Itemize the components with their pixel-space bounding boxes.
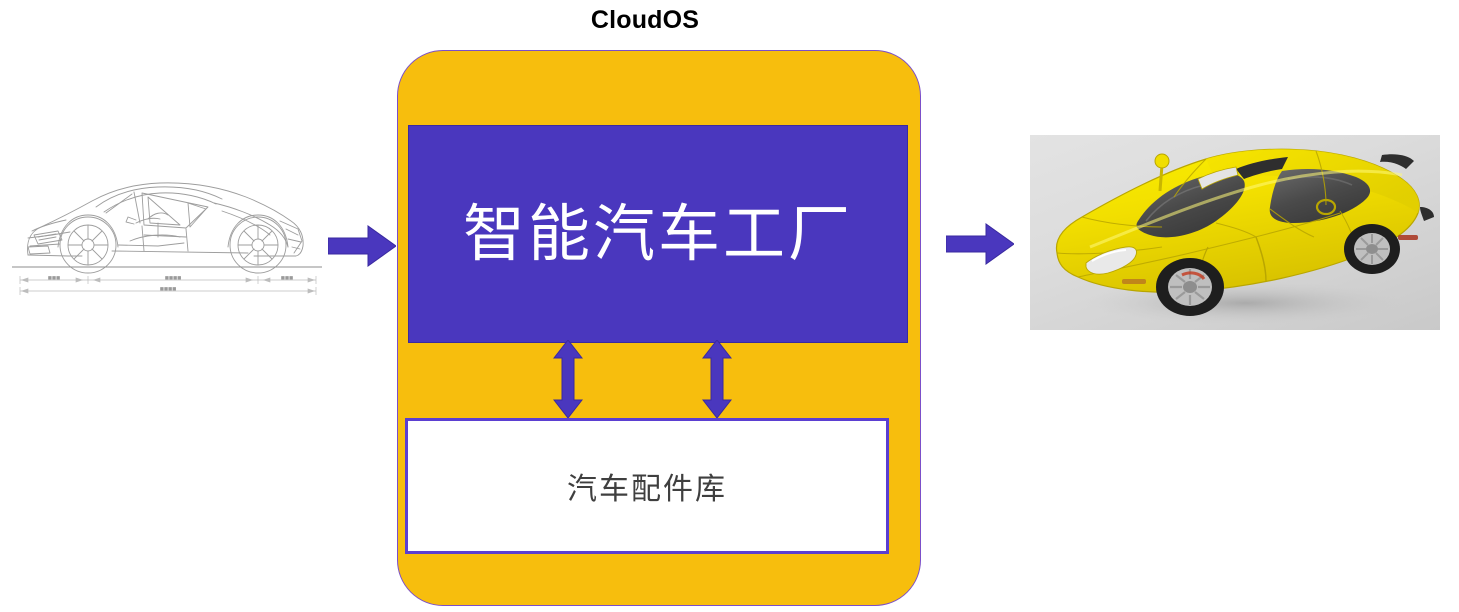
car-blueprint-drawing: ■■■ ■■■■ ■■■ ■■■■ (8, 163, 326, 296)
smart-car-factory-box[interactable]: 智能汽车工厂 (408, 125, 908, 343)
auto-parts-library-label: 汽车配件库 (567, 464, 727, 508)
svg-text:■■■: ■■■ (281, 276, 293, 281)
svg-text:■■■■: ■■■■ (165, 276, 182, 281)
page-title: CloudOS (0, 5, 1290, 35)
arrow-right-icon (946, 222, 1014, 266)
svg-text:■■■: ■■■ (48, 276, 60, 281)
arrow-right-icon (328, 224, 396, 268)
arrow-up-down-icon (553, 340, 583, 418)
cloud-platform-panel: 智能汽车工厂 汽车配件库 (397, 50, 921, 606)
smart-car-factory-label: 智能汽车工厂 (463, 203, 853, 265)
svg-text:■■■■: ■■■■ (160, 287, 177, 292)
diagram-canvas: CloudOS (0, 0, 1459, 612)
auto-parts-library-box[interactable]: 汽车配件库 (405, 418, 889, 554)
yellow-sports-car-render (1030, 135, 1440, 330)
arrow-up-down-icon (702, 340, 732, 418)
